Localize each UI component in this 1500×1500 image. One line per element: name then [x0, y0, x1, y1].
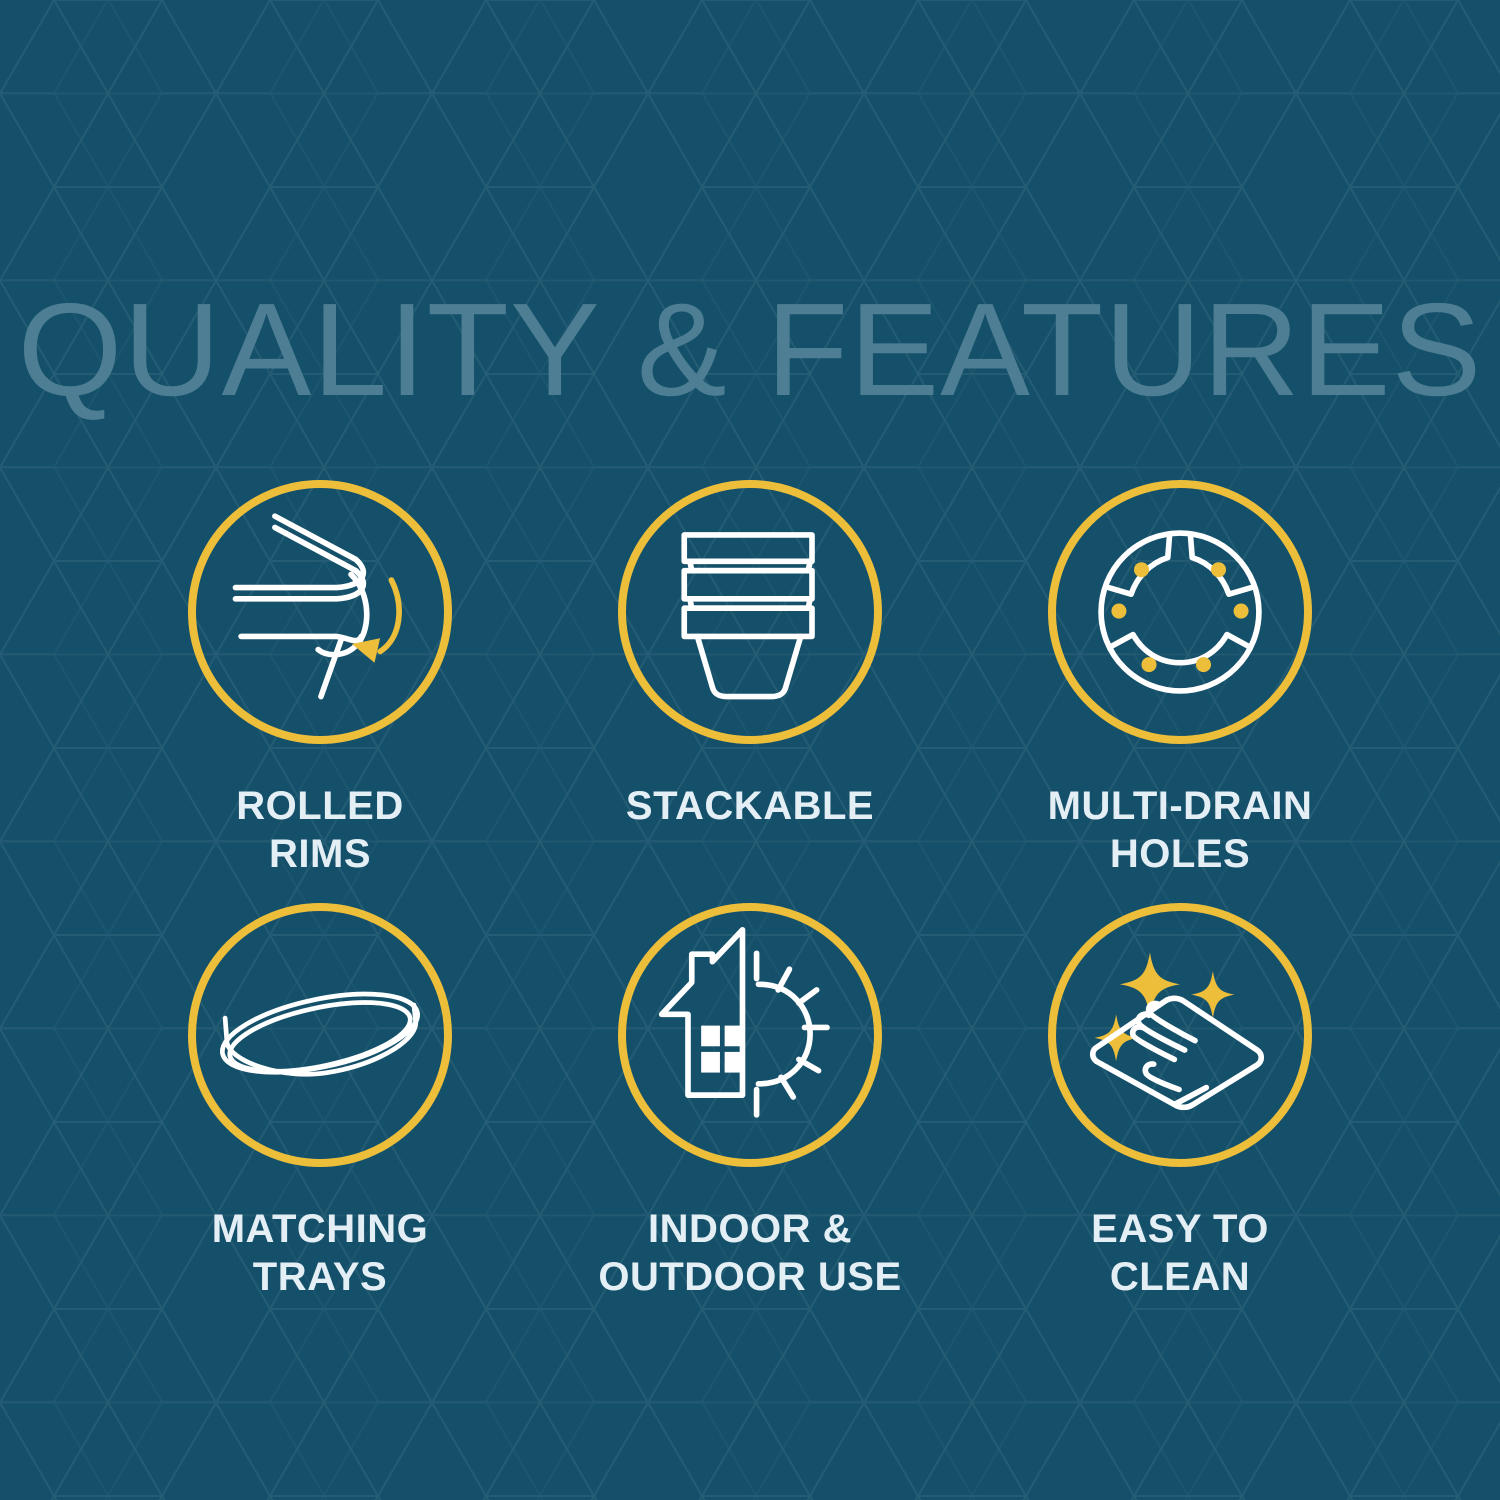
drain-holes-icon [1056, 488, 1304, 736]
page-title: QUALITY & FEATURES [0, 284, 1500, 416]
oval-tray-icon [196, 911, 444, 1159]
feature-matching-trays[interactable]: MATCHING TRAYS [105, 903, 535, 1326]
feature-stackable[interactable]: STACKABLE [535, 480, 965, 903]
feature-label: MULTI-DRAIN HOLES [1048, 782, 1313, 878]
feature-rolled-rims[interactable]: ROLLED RIMS [105, 480, 535, 903]
icon-ring [1048, 903, 1312, 1167]
feature-label: STACKABLE [626, 782, 874, 830]
feature-label: INDOOR & OUTDOOR USE [598, 1205, 901, 1301]
sparkles [1095, 952, 1235, 1061]
icon-ring [618, 903, 882, 1167]
icon-ring [188, 480, 452, 744]
wiping-hand-sparkle-icon [1056, 911, 1304, 1159]
feature-label: MATCHING TRAYS [212, 1205, 429, 1301]
icon-ring [618, 480, 882, 744]
icon-ring [188, 903, 452, 1167]
rolled-rim-icon [196, 488, 444, 736]
feature-label: ROLLED RIMS [236, 782, 403, 878]
house-sun-icon [626, 911, 874, 1159]
stacked-pots-icon [626, 488, 874, 736]
feature-indoor-outdoor-use[interactable]: INDOOR & OUTDOOR USE [535, 903, 965, 1326]
feature-label: EASY TO CLEAN [1091, 1205, 1269, 1301]
drain-hole-dots [1111, 562, 1248, 672]
feature-infographic: QUALITY & FEATURES [0, 0, 1500, 1500]
house-window [701, 1026, 743, 1073]
feature-multi-drain-holes[interactable]: MULTI-DRAIN HOLES [965, 480, 1395, 903]
icon-ring [1048, 480, 1312, 744]
feature-grid: ROLLED RIMS STACKABLE [105, 480, 1395, 1326]
feature-easy-to-clean[interactable]: EASY TO CLEAN [965, 903, 1395, 1326]
cloth-and-hand [1093, 998, 1262, 1107]
